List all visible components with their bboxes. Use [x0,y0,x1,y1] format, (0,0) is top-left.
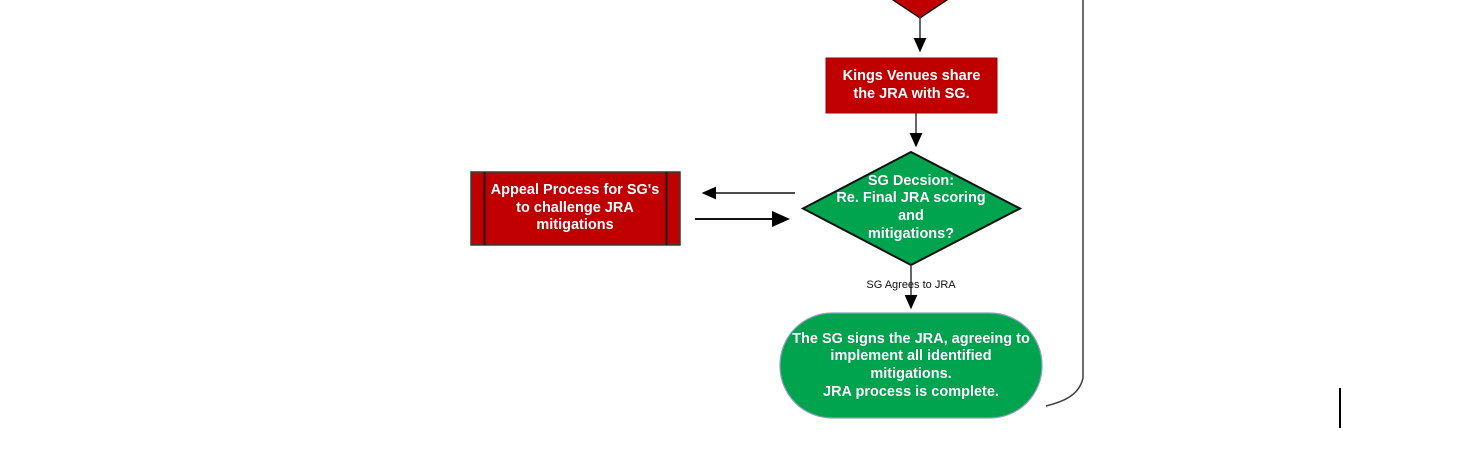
node-share-jra[interactable] [826,58,997,113]
node-top-decision-partial-tip[interactable] [872,0,968,18]
text-cursor-caret[interactable] [1339,388,1341,428]
edge-label-sg-agrees-to-jra: SG Agrees to JRA [848,279,974,293]
node-sign-jra[interactable] [780,313,1042,418]
flowchart-canvas: Kings Venues share the JRA with SG. SG D… [0,0,1470,459]
node-appeal-process[interactable] [471,172,680,245]
node-sg-decision[interactable] [803,152,1020,265]
flowchart-svg [0,0,1470,459]
edge-return-loop [1046,0,1083,406]
